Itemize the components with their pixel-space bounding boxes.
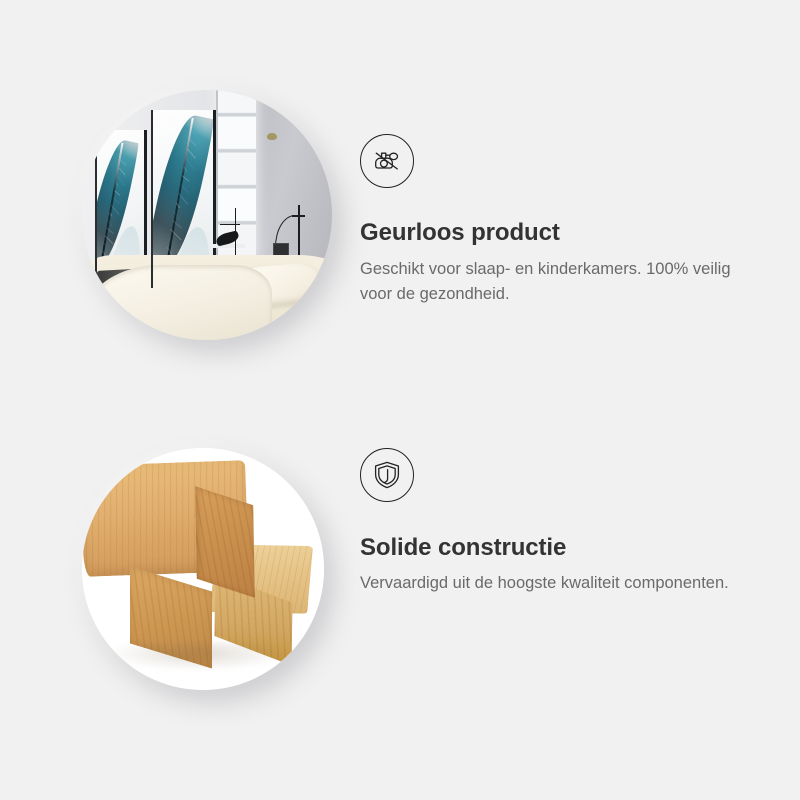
wood-shadow xyxy=(106,642,290,671)
feather-barb xyxy=(180,184,189,193)
wood-scene xyxy=(82,448,324,690)
bedroom-scene xyxy=(82,90,332,340)
feather-barb xyxy=(118,168,125,176)
feather-barb xyxy=(186,157,196,170)
feather-barb xyxy=(191,130,196,134)
bedroom-feather-canvas-photo xyxy=(82,90,332,340)
feather-barb xyxy=(182,175,189,181)
feature-title: Solide constructie xyxy=(360,534,760,563)
shield-icon xyxy=(360,448,414,502)
wall-detail xyxy=(267,133,277,140)
feather-barb xyxy=(112,198,119,205)
feature-image-wrapper xyxy=(82,90,332,340)
wood-beam-large-end-grain xyxy=(195,487,255,598)
floor-lamp-arm-left xyxy=(220,224,240,226)
feature-block-solide-constructie: Solide constructie Vervaardigd uit de ho… xyxy=(0,420,800,730)
feature-list-page: Geurloos product Geschikt voor slaap- en… xyxy=(0,0,800,800)
feather-barb xyxy=(188,148,197,158)
feather-barb xyxy=(121,153,125,156)
feature-info: Solide constructie Vervaardigd uit de ho… xyxy=(360,448,760,596)
wooden-blocks-photo xyxy=(82,448,324,690)
feature-description: Geschikt voor slaap- en kinderkamers. 10… xyxy=(360,257,750,307)
floor-lamp-arm-right xyxy=(292,215,305,217)
feather-barb xyxy=(178,193,189,205)
feather-barb xyxy=(120,161,125,166)
feature-block-geurloos-product: Geurloos product Geschikt voor slaap- en… xyxy=(0,60,800,380)
feather-barb xyxy=(113,190,119,195)
feature-info: Geurloos product Geschikt voor slaap- en… xyxy=(360,134,760,307)
feather-barb xyxy=(110,205,118,215)
feather-barb xyxy=(190,139,197,146)
feature-image-wrapper xyxy=(82,448,324,690)
feature-description: Vervaardigd uit de hoogste kwaliteit com… xyxy=(360,571,750,596)
feature-title: Geurloos product xyxy=(360,219,760,248)
feather-barb xyxy=(184,166,188,171)
no-fragrance-icon xyxy=(360,134,414,188)
duvet xyxy=(87,265,272,340)
